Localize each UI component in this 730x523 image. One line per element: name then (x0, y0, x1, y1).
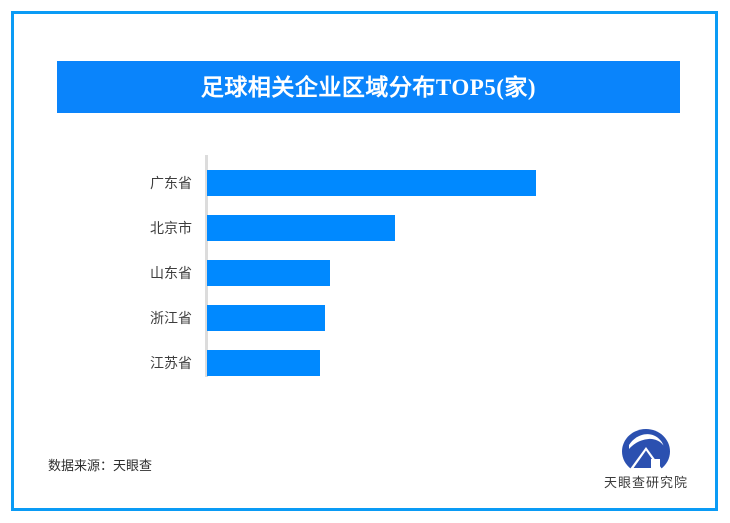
brand-logo: 天眼查研究院 (596, 428, 696, 494)
chart-plot-area: 广东省北京市山东省浙江省江苏省 (0, 150, 730, 380)
bar-value-rect (207, 305, 325, 331)
bar-category-label: 北京市 (72, 215, 192, 241)
bar-row: 广东省 (0, 170, 730, 196)
bar-row: 北京市 (0, 215, 730, 241)
bar-row: 山东省 (0, 260, 730, 286)
bar-value-rect (207, 215, 395, 241)
poster-canvas: 足球相关企业区域分布TOP5(家) 广东省北京市山东省浙江省江苏省 数据来源：天… (0, 0, 730, 523)
bar-category-label: 山东省 (72, 260, 192, 286)
bar-value-rect (207, 350, 320, 376)
title-banner: 足球相关企业区域分布TOP5(家) (57, 61, 680, 113)
bar-value-rect (207, 260, 330, 286)
bar-value-rect (207, 170, 536, 196)
brand-logo-label: 天眼查研究院 (596, 472, 696, 491)
data-source-note: 数据来源：天眼查 (48, 455, 152, 474)
bar-row: 江苏省 (0, 350, 730, 376)
page-title: 足球相关企业区域分布TOP5(家) (201, 76, 536, 99)
bar-category-label: 江苏省 (72, 350, 192, 376)
tianyancha-logo-icon (621, 428, 671, 470)
bar-category-label: 浙江省 (72, 305, 192, 331)
bar-row: 浙江省 (0, 305, 730, 331)
bar-category-label: 广东省 (72, 170, 192, 196)
